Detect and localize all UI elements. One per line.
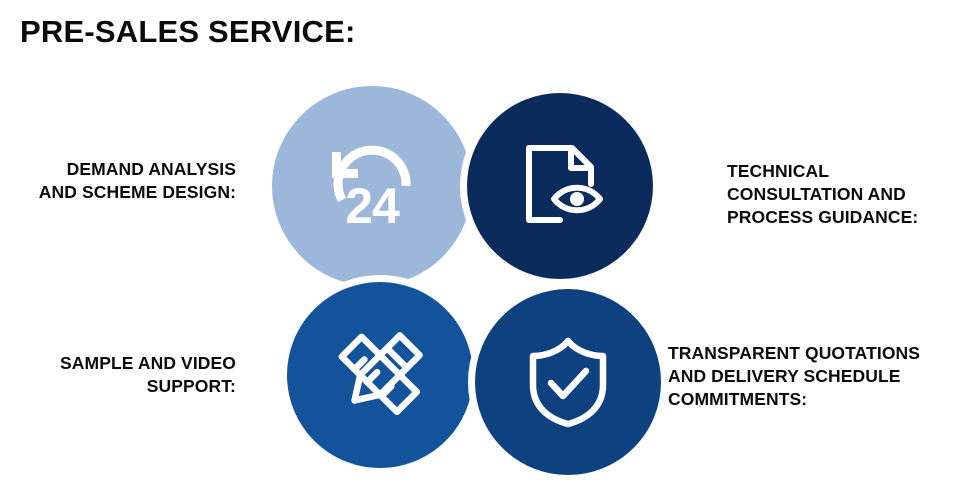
pencil-ruler-icon: [330, 327, 430, 423]
bubble-technical-consultation[interactable]: [460, 86, 660, 286]
label-technical-consultation: TECHNICAL CONSULTATION AND PROCESS GUIDA…: [727, 160, 953, 229]
document-eye-icon: [514, 140, 606, 232]
label-transparent-quotations: TRANSPARENT QUOTATIONS AND DELIVERY SCHE…: [668, 342, 960, 411]
bubble-demand-analysis[interactable]: 24: [272, 86, 472, 286]
shield-check-icon: [525, 335, 611, 429]
pre-sales-service-diagram: 24: [272, 86, 668, 486]
label-demand-analysis: DEMAND ANALYSIS AND SCHEME DESIGN:: [0, 158, 236, 204]
bubble-sample-video-support[interactable]: [280, 275, 480, 475]
bubble-transparent-quotations[interactable]: [468, 282, 668, 482]
svg-text:24: 24: [345, 178, 400, 234]
page-title: PRE-SALES SERVICE:: [20, 14, 356, 50]
clock-24-rotate-icon: 24: [320, 138, 424, 234]
label-sample-video-support: SAMPLE AND VIDEO SUPPORT:: [0, 352, 236, 398]
